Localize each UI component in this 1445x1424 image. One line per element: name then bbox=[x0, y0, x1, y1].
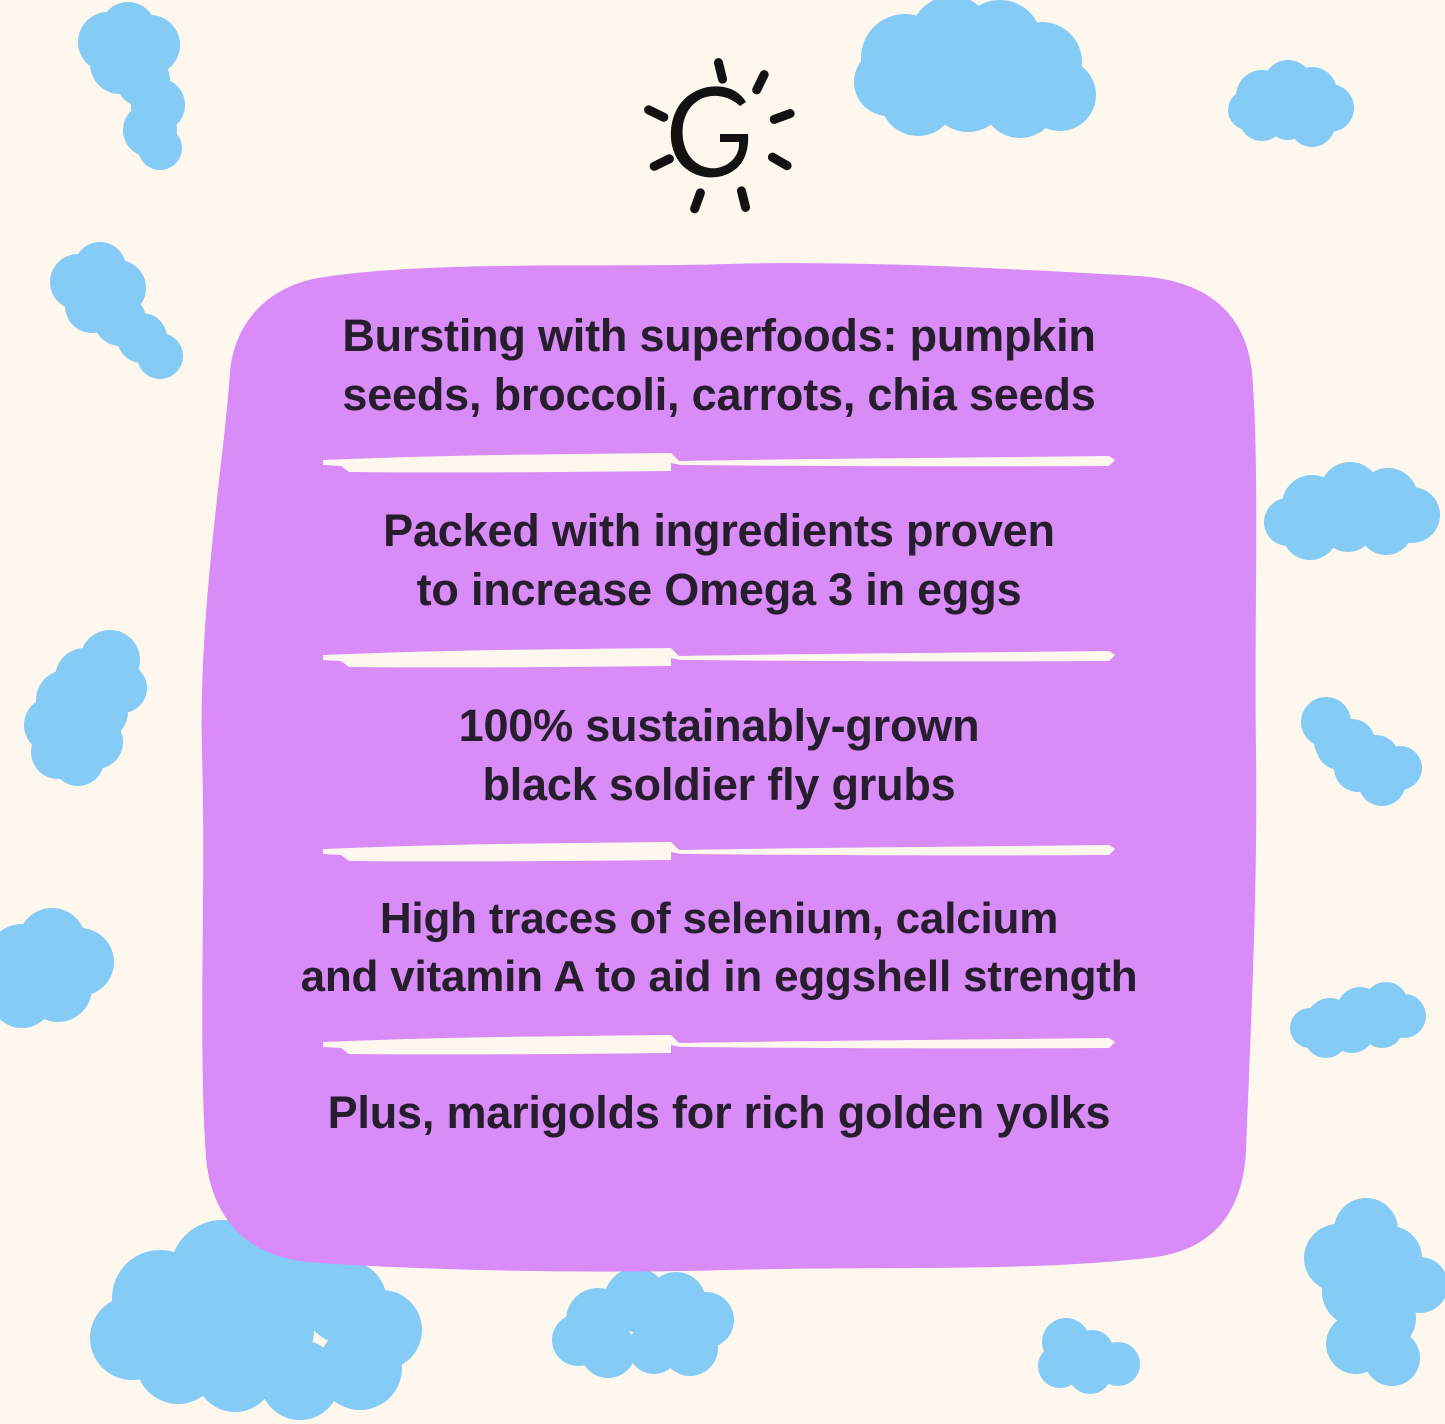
brand-logo bbox=[628, 56, 818, 221]
ray bbox=[642, 104, 669, 123]
ray bbox=[750, 69, 769, 96]
benefit-marigolds: Plus, marigolds for rich golden yolks bbox=[198, 1083, 1240, 1142]
blue-blob-bottom-center bbox=[552, 1268, 734, 1378]
benefit-line: seeds, broccoli, carrots, chia seeds bbox=[198, 365, 1240, 424]
benefits-card: Bursting with superfoods: pumpkin seeds,… bbox=[168, 252, 1270, 1282]
blue-blob-right-upper bbox=[1264, 462, 1440, 560]
promo-graphic: Bursting with superfoods: pumpkin seeds,… bbox=[0, 0, 1445, 1424]
sun-g-logo bbox=[642, 57, 795, 214]
blue-blob-top-right-large bbox=[854, 0, 1096, 138]
ray bbox=[712, 57, 727, 84]
benefit-line: black soldier fly grubs bbox=[198, 755, 1240, 814]
benefit-line: Bursting with superfoods: pumpkin bbox=[198, 306, 1240, 365]
benefit-line: and vitamin A to aid in eggshell strengt… bbox=[198, 948, 1240, 1006]
divider-1 bbox=[319, 451, 1119, 477]
benefit-line: Packed with ingredients proven bbox=[198, 501, 1240, 560]
ray bbox=[648, 153, 675, 172]
benefit-line: High traces of selenium, calcium bbox=[198, 890, 1240, 948]
benefits-list: Bursting with superfoods: pumpkin seeds,… bbox=[168, 252, 1270, 1282]
benefit-eggshell: High traces of selenium, calcium and vit… bbox=[198, 890, 1240, 1006]
blue-blob-right-top-arc bbox=[1228, 60, 1354, 147]
blue-blob-right-middle bbox=[1301, 697, 1422, 806]
blue-blob-left-middle bbox=[24, 630, 147, 786]
blue-blob-right-bottom bbox=[1304, 1198, 1445, 1386]
benefit-line: to increase Omega 3 in eggs bbox=[198, 560, 1240, 619]
divider-4 bbox=[319, 1033, 1119, 1059]
benefit-line: 100% sustainably-grown bbox=[198, 696, 1240, 755]
blue-blob-upper-left-2 bbox=[50, 242, 183, 379]
ray bbox=[736, 185, 751, 212]
ray bbox=[768, 108, 796, 125]
divider-2 bbox=[319, 646, 1119, 672]
benefit-omega3: Packed with ingredients proven to increa… bbox=[198, 501, 1240, 620]
blue-blob-right-lower bbox=[1290, 982, 1426, 1058]
divider-3 bbox=[319, 840, 1119, 866]
benefit-superfoods: Bursting with superfoods: pumpkin seeds,… bbox=[198, 306, 1240, 425]
benefit-grubs: 100% sustainably-grown black soldier fly… bbox=[198, 696, 1240, 815]
blue-blob-bottom-left-small bbox=[1038, 1318, 1140, 1394]
blue-blob-top-left bbox=[78, 2, 185, 170]
blue-blob-left-lower bbox=[0, 908, 114, 1028]
ray bbox=[688, 187, 705, 215]
benefit-line: Plus, marigolds for rich golden yolks bbox=[198, 1083, 1240, 1142]
ray bbox=[766, 151, 793, 172]
